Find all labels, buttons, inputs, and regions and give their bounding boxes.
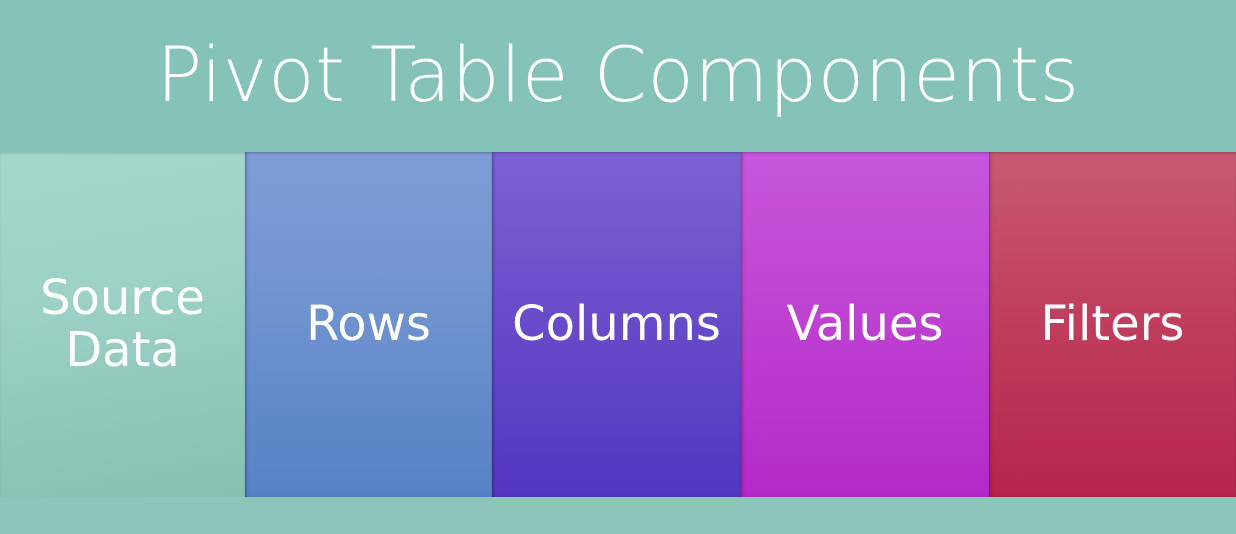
component-label-values: Values — [781, 299, 950, 351]
slide-canvas: Pivot Table Components Source Data Rows … — [0, 0, 1236, 534]
component-block-rows[interactable]: Rows — [245, 152, 492, 497]
component-block-values[interactable]: Values — [741, 152, 989, 497]
component-label-columns: Columns — [506, 299, 727, 351]
component-label-rows: Rows — [300, 299, 437, 351]
component-block-columns[interactable]: Columns — [492, 152, 741, 497]
footer-strip — [0, 497, 1236, 534]
page-title: Pivot Table Components — [0, 0, 1236, 150]
component-block-row: Source Data Rows Columns Values Filters — [0, 152, 1236, 497]
component-label-filters: Filters — [1035, 299, 1191, 351]
component-block-filters[interactable]: Filters — [989, 152, 1236, 497]
component-block-source-data[interactable]: Source Data — [0, 152, 245, 497]
component-label-source-data: Source Data — [34, 273, 211, 377]
